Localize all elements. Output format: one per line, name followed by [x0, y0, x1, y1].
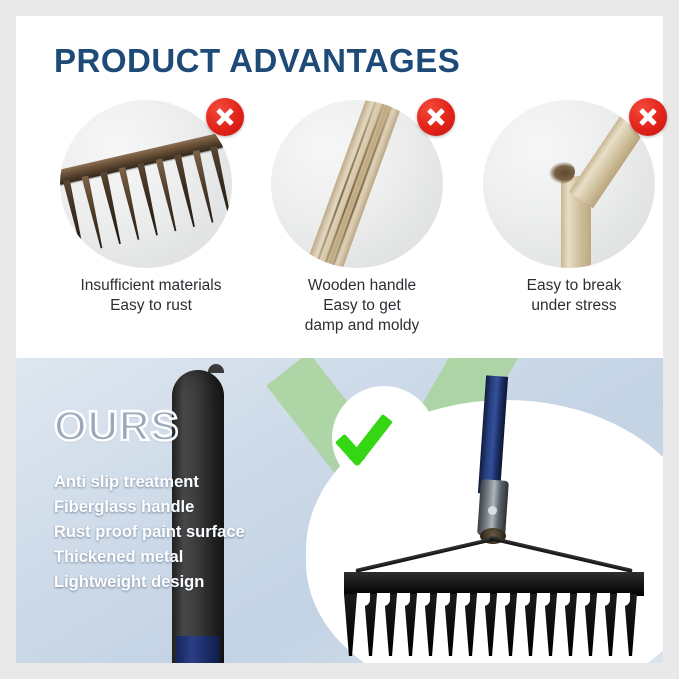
tine-gap — [597, 593, 610, 606]
grip-end-cap — [208, 364, 224, 373]
con-caption-line: Easy to get — [257, 296, 467, 316]
red-x-icon — [417, 98, 455, 136]
rake-brace — [355, 536, 498, 573]
con-caption-line: Wooden handle — [257, 276, 467, 296]
tine-gap — [537, 593, 550, 606]
rake-tine — [63, 180, 86, 254]
rake-blue-handle — [478, 375, 508, 494]
con-image-wrap — [271, 100, 451, 270]
feature-item: Thickened metal — [54, 545, 304, 570]
rake-tine-row — [344, 594, 644, 660]
feature-item: Rust proof paint surface — [54, 520, 304, 545]
cons-card-list: Insufficient materials Easy to rust — [32, 100, 679, 350]
tine-gap — [357, 593, 370, 606]
red-x-icon — [206, 98, 244, 136]
rake-tine — [118, 167, 141, 241]
feature-item: Fiberglass handle — [54, 495, 304, 520]
rake-tine — [137, 163, 160, 237]
con-card: Easy to break under stress — [469, 100, 679, 350]
con-image-wrap — [483, 100, 663, 270]
tine-gap — [457, 593, 470, 606]
broken-wooden-handle-photo — [483, 100, 655, 268]
red-x-icon — [629, 98, 667, 136]
tine-gap — [497, 593, 510, 606]
rake-tine — [210, 146, 232, 220]
ours-panel: OURS Anti slip treatment Fiberglass hand… — [16, 358, 663, 663]
rake-tine — [156, 158, 179, 232]
wood-grain-line — [303, 100, 384, 268]
tine-gap — [377, 593, 390, 606]
tine-gap — [477, 593, 490, 606]
con-caption-line: Easy to rust — [46, 296, 256, 316]
blue-handle-metal-rake-photo — [348, 376, 663, 663]
con-card: Insufficient materials Easy to rust — [46, 100, 256, 350]
page-title: PRODUCT ADVANTAGES — [54, 42, 460, 80]
tine-gap — [397, 593, 410, 606]
rake-tine — [81, 175, 104, 249]
con-image-wrap — [60, 100, 240, 270]
tine-gap — [557, 593, 570, 606]
rake-tine — [174, 154, 197, 228]
tine-gap — [517, 593, 530, 606]
tine-gap — [437, 593, 450, 606]
con-card: Wooden handle Easy to get damp and moldy — [257, 100, 467, 350]
tine-gap — [617, 593, 630, 606]
rake-tine — [344, 594, 357, 656]
feature-item: Anti slip treatment — [54, 470, 304, 495]
cons-panel: PRODUCT ADVANTAGES — [16, 16, 663, 358]
weathered-wooden-handle-photo — [271, 100, 443, 268]
wood-grain-line — [318, 100, 399, 268]
blue-pole-segment — [176, 636, 220, 663]
con-caption-line: damp and moldy — [257, 316, 467, 336]
tine-gap — [577, 593, 590, 606]
rake-tine — [100, 171, 123, 245]
con-caption-line: under stress — [469, 296, 679, 316]
rake-brace — [490, 536, 633, 573]
con-caption: Wooden handle Easy to get damp and moldy — [257, 276, 467, 336]
feature-item: Lightweight design — [54, 570, 304, 595]
infographic-canvas: PRODUCT ADVANTAGES — [0, 0, 679, 679]
ours-heading: OURS — [54, 402, 179, 450]
con-caption-line: Easy to break — [469, 276, 679, 296]
wooden-handle-illustration — [295, 100, 407, 268]
con-caption: Easy to break under stress — [469, 276, 679, 316]
rusty-rake-head-photo — [60, 100, 232, 268]
rake-tine — [193, 150, 216, 224]
con-caption-line: Insufficient materials — [46, 276, 256, 296]
feature-list: Anti slip treatment Fiberglass handle Ru… — [54, 470, 304, 595]
con-caption: Insufficient materials Easy to rust — [46, 276, 256, 316]
tine-gap — [417, 593, 430, 606]
rusty-rake-illustration — [60, 100, 232, 268]
ferrule-rivet — [488, 506, 497, 515]
